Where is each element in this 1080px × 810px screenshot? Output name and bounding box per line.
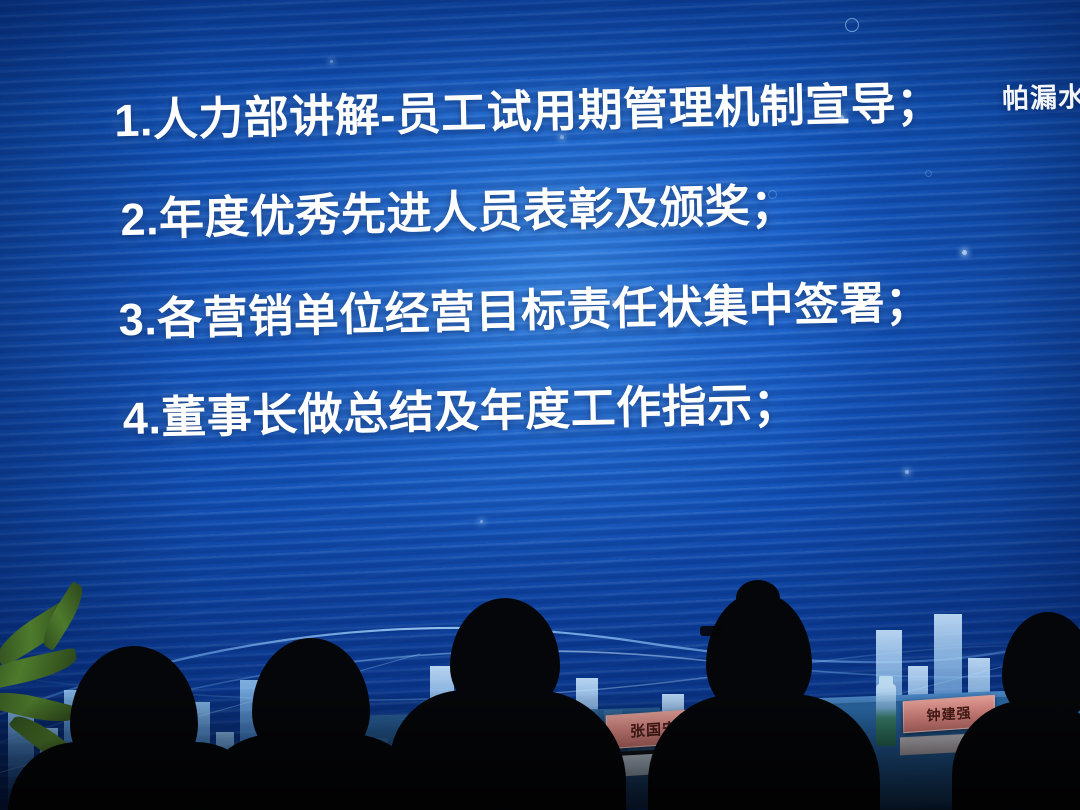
particle-dot — [330, 60, 333, 63]
particle-dot — [480, 520, 483, 523]
city-skyline-graphic — [0, 560, 1080, 810]
agenda-item-2: 2.年度优秀先进人员表彰及颁奖； — [0, 175, 1079, 246]
conference-screenshot: 帕漏水 — [0, 0, 1080, 810]
agenda-item-3: 3.各营销单位经营目标责任状集中签署； — [0, 275, 1080, 346]
agenda-list: 1.人力部讲解-员工试用期管理机制宣导； 2.年度优秀先进人员表彰及颁奖； 3.… — [0, 76, 1080, 496]
particle-ring — [845, 18, 859, 32]
agenda-item-4: 4.董事长做总结及年度工作指示； — [2, 374, 1080, 445]
